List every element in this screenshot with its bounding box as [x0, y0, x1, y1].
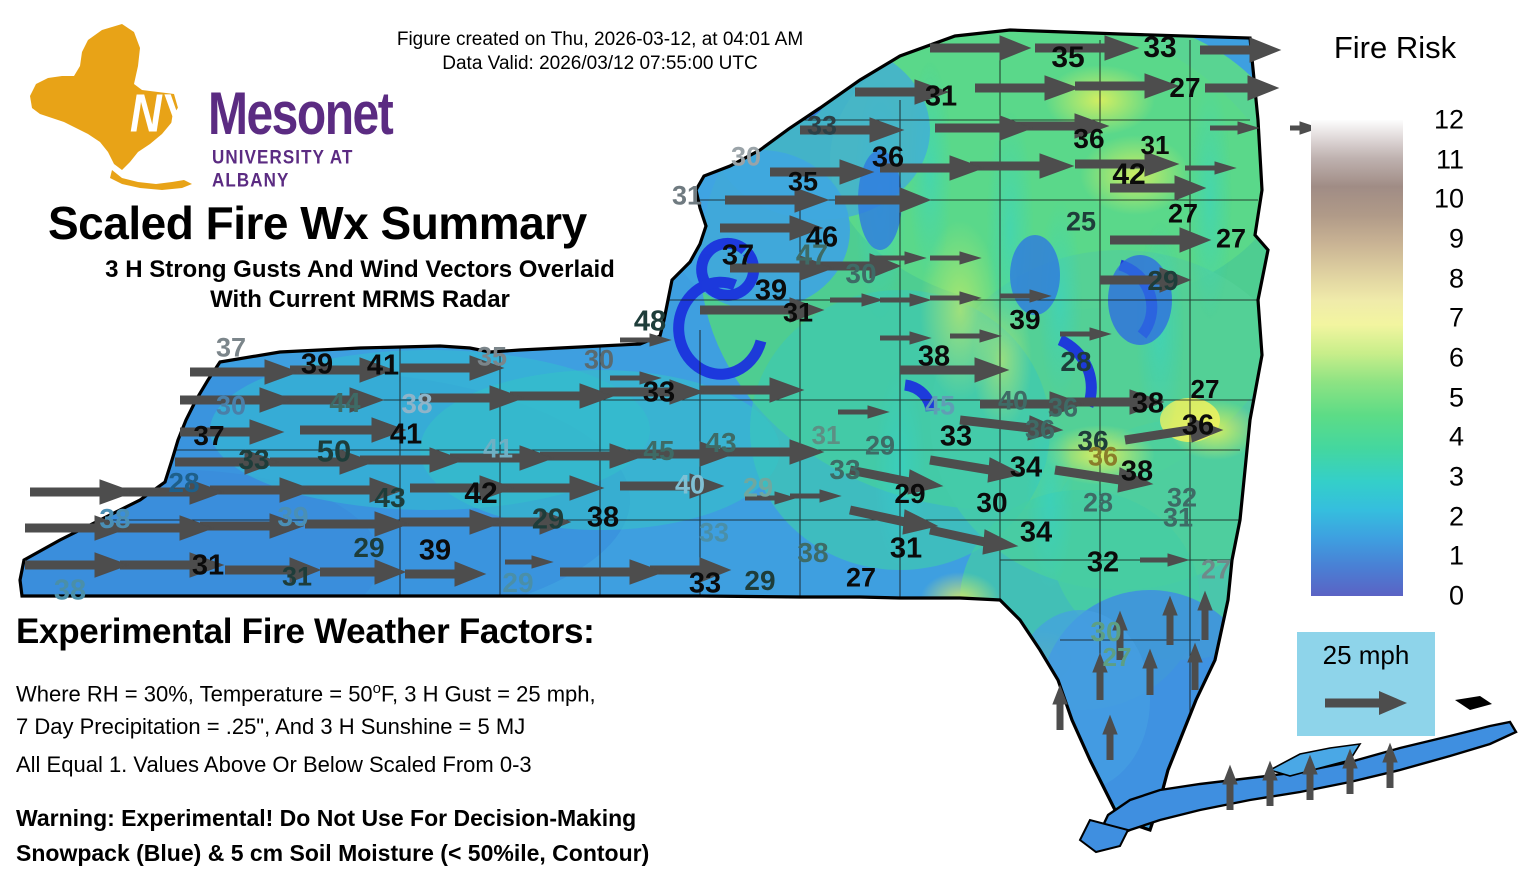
gust-value-label: 29: [532, 506, 564, 535]
gust-value-label: 32: [1087, 549, 1119, 578]
warning-line-1: Warning: Experimental! Do Not Use For De…: [16, 805, 636, 832]
gust-value-label: 38: [54, 577, 86, 606]
gust-value-label: 38: [918, 343, 950, 372]
gust-value-label: 31: [672, 183, 702, 210]
gust-value-label: 42: [1112, 160, 1145, 190]
gust-value-label: 34: [1020, 519, 1052, 548]
gust-value-label: 38: [401, 390, 432, 418]
gust-value-label: 31: [783, 300, 813, 327]
gust-value-label: 33: [940, 423, 972, 452]
gust-value-label: 36: [1182, 412, 1214, 441]
colorbar-tick-10: 10: [1408, 186, 1464, 213]
gust-value-label: 31: [812, 422, 841, 448]
logo-nys-text: NYS: [130, 84, 217, 145]
gust-value-label: 33: [807, 113, 837, 140]
gust-value-label: 36: [1073, 125, 1104, 153]
gust-value-label: 27: [1169, 74, 1200, 102]
gust-value-label: 29: [743, 475, 773, 502]
colorbar-tick-0: 0: [1408, 583, 1464, 610]
wind-arrow-icon: [1323, 688, 1409, 718]
gust-value-label: 31: [282, 564, 312, 591]
factors-heading: Experimental Fire Weather Factors:: [16, 612, 595, 652]
colorbar-tick-4: 4: [1408, 424, 1464, 451]
colorbar-tick-9: 9: [1408, 226, 1464, 253]
gust-value-label: 36: [1088, 444, 1118, 471]
gust-value-label: 27: [1216, 226, 1246, 253]
gust-value-label: 38: [797, 539, 828, 567]
colorbar-tick-1: 1: [1408, 543, 1464, 570]
gust-value-label: 39: [419, 537, 451, 566]
gust-value-label: 33: [643, 379, 675, 408]
gust-value-label: 41: [483, 436, 513, 463]
page-title: Scaled Fire Wx Summary: [48, 196, 587, 250]
gust-value-label: 41: [390, 421, 422, 450]
colorbar-tick-7: 7: [1408, 305, 1464, 332]
subtitle-line-2: With Current MRMS Radar: [40, 286, 680, 314]
nys-mesonet-logo[interactable]: NYS Mesonet UNIVERSITY AT ALBANY: [22, 22, 392, 190]
gust-value-label: 38: [587, 504, 619, 533]
colorbar-tick-12: 12: [1408, 107, 1464, 134]
gust-value-label: 33: [689, 570, 721, 599]
gust-value-label: 39: [277, 503, 308, 531]
gust-value-label: 37: [216, 335, 246, 362]
gust-value-label: 31: [925, 83, 957, 112]
gust-value-label: 30: [976, 489, 1007, 517]
logo-university-text: UNIVERSITY AT ALBANY: [212, 146, 392, 192]
gust-value-label: 31: [1141, 132, 1170, 158]
colorbar-tick-11: 11: [1408, 146, 1464, 173]
gust-value-label: 39: [1009, 306, 1040, 334]
gust-value-label: 40: [998, 388, 1028, 415]
gust-value-label: 35: [477, 344, 507, 371]
gust-value-label: 30: [845, 260, 876, 288]
subtitle-line-1: 3 H Strong Gusts And Wind Vectors Overla…: [40, 256, 680, 284]
gust-value-label: 29: [1147, 267, 1178, 295]
gust-value-label: 35: [788, 169, 818, 196]
colorbar-tick-5: 5: [1408, 384, 1464, 411]
factors-line-2: 7 Day Precipitation = .25", And 3 H Suns…: [16, 714, 525, 740]
colorbar-tick-6: 6: [1408, 345, 1464, 372]
gust-value-label: 28: [168, 469, 199, 497]
gust-value-label: 38: [1121, 458, 1153, 487]
gust-value-label: 30: [584, 347, 614, 374]
gust-value-label: 27: [1191, 376, 1220, 402]
gust-value-label: 44: [329, 389, 360, 417]
gust-value-label: 50: [317, 436, 351, 467]
gust-value-label: 45: [643, 437, 674, 465]
gust-value-label: 29: [353, 534, 384, 562]
gust-value-label: 28: [1060, 348, 1091, 376]
gust-value-label: 31: [890, 535, 922, 564]
degree-symbol: o: [373, 680, 381, 697]
gust-value-label: 33: [829, 456, 860, 484]
factors-line-1-pre: Where RH = 30%, Temperature = 50: [16, 681, 373, 706]
factors-line-1-post: F, 3 H Gust = 25 mph,: [381, 681, 596, 706]
gust-value-label: 36: [1025, 417, 1055, 444]
gust-value-label: 31: [1163, 505, 1193, 532]
gust-value-label: 30: [731, 144, 761, 171]
gust-value-label: 27: [846, 565, 876, 592]
gust-value-label: 41: [367, 352, 399, 381]
wind-speed-legend: 25 mph: [1297, 632, 1435, 736]
fire-risk-colorbar: [1311, 120, 1403, 596]
gust-value-label: 37: [722, 242, 754, 271]
gust-value-label: 38: [99, 505, 130, 533]
gust-value-label: 47: [796, 242, 828, 271]
colorbar-tick-8: 8: [1408, 265, 1464, 292]
data-valid-line: Data Valid: 2026/03/12 07:55:00 UTC: [360, 52, 840, 76]
figure-created-line: Figure created on Thu, 2026-03-12, at 04…: [360, 28, 840, 52]
gust-value-label: 43: [705, 429, 736, 457]
gust-value-label: 29: [502, 569, 533, 597]
gust-value-label: 33: [699, 520, 729, 547]
gust-value-label: 29: [894, 480, 925, 508]
colorbar-tick-3: 3: [1408, 464, 1464, 491]
gust-value-label: 27: [1201, 557, 1231, 584]
gust-value-label: 37: [193, 422, 224, 450]
gust-value-label: 29: [865, 433, 895, 460]
warning-line-2: Snowpack (Blue) & 5 cm Soil Moisture (< …: [16, 840, 649, 867]
logo-mesonet-text: Mesonet: [208, 80, 392, 149]
gust-value-label: 40: [675, 472, 705, 499]
gust-value-label: 25: [1066, 209, 1096, 236]
gust-value-label: 27: [1168, 201, 1198, 228]
gust-value-label: 28: [1083, 490, 1113, 517]
gust-value-label: 43: [374, 484, 405, 512]
gust-value-label: 39: [301, 351, 333, 380]
gust-value-label: 29: [744, 567, 775, 595]
gust-value-label: 33: [238, 446, 269, 474]
gust-value-label: 33: [1143, 33, 1176, 63]
factors-line-1: Where RH = 30%, Temperature = 50oF, 3 H …: [16, 676, 596, 707]
gust-value-label: 31: [192, 552, 224, 581]
gust-value-label: 42: [464, 479, 497, 509]
colorbar-tick-labels: 1211109876543210: [1408, 120, 1464, 596]
factors-line-3: All Equal 1. Values Above Or Below Scale…: [16, 752, 532, 778]
gust-value-label: 27: [1103, 644, 1132, 670]
gust-value-label: 36: [872, 144, 904, 173]
colorbar-tick-2: 2: [1408, 503, 1464, 530]
gust-value-label: 45: [925, 393, 955, 420]
gust-value-label: 34: [1010, 454, 1042, 483]
gust-value-label: 35: [1051, 43, 1084, 73]
gust-value-label: 38: [1132, 390, 1164, 419]
colorbar-title: Fire Risk: [1300, 30, 1490, 66]
wind-legend-label: 25 mph: [1297, 640, 1435, 671]
figure-timestamp: Figure created on Thu, 2026-03-12, at 04…: [360, 28, 840, 76]
gust-value-label: 30: [216, 393, 246, 420]
